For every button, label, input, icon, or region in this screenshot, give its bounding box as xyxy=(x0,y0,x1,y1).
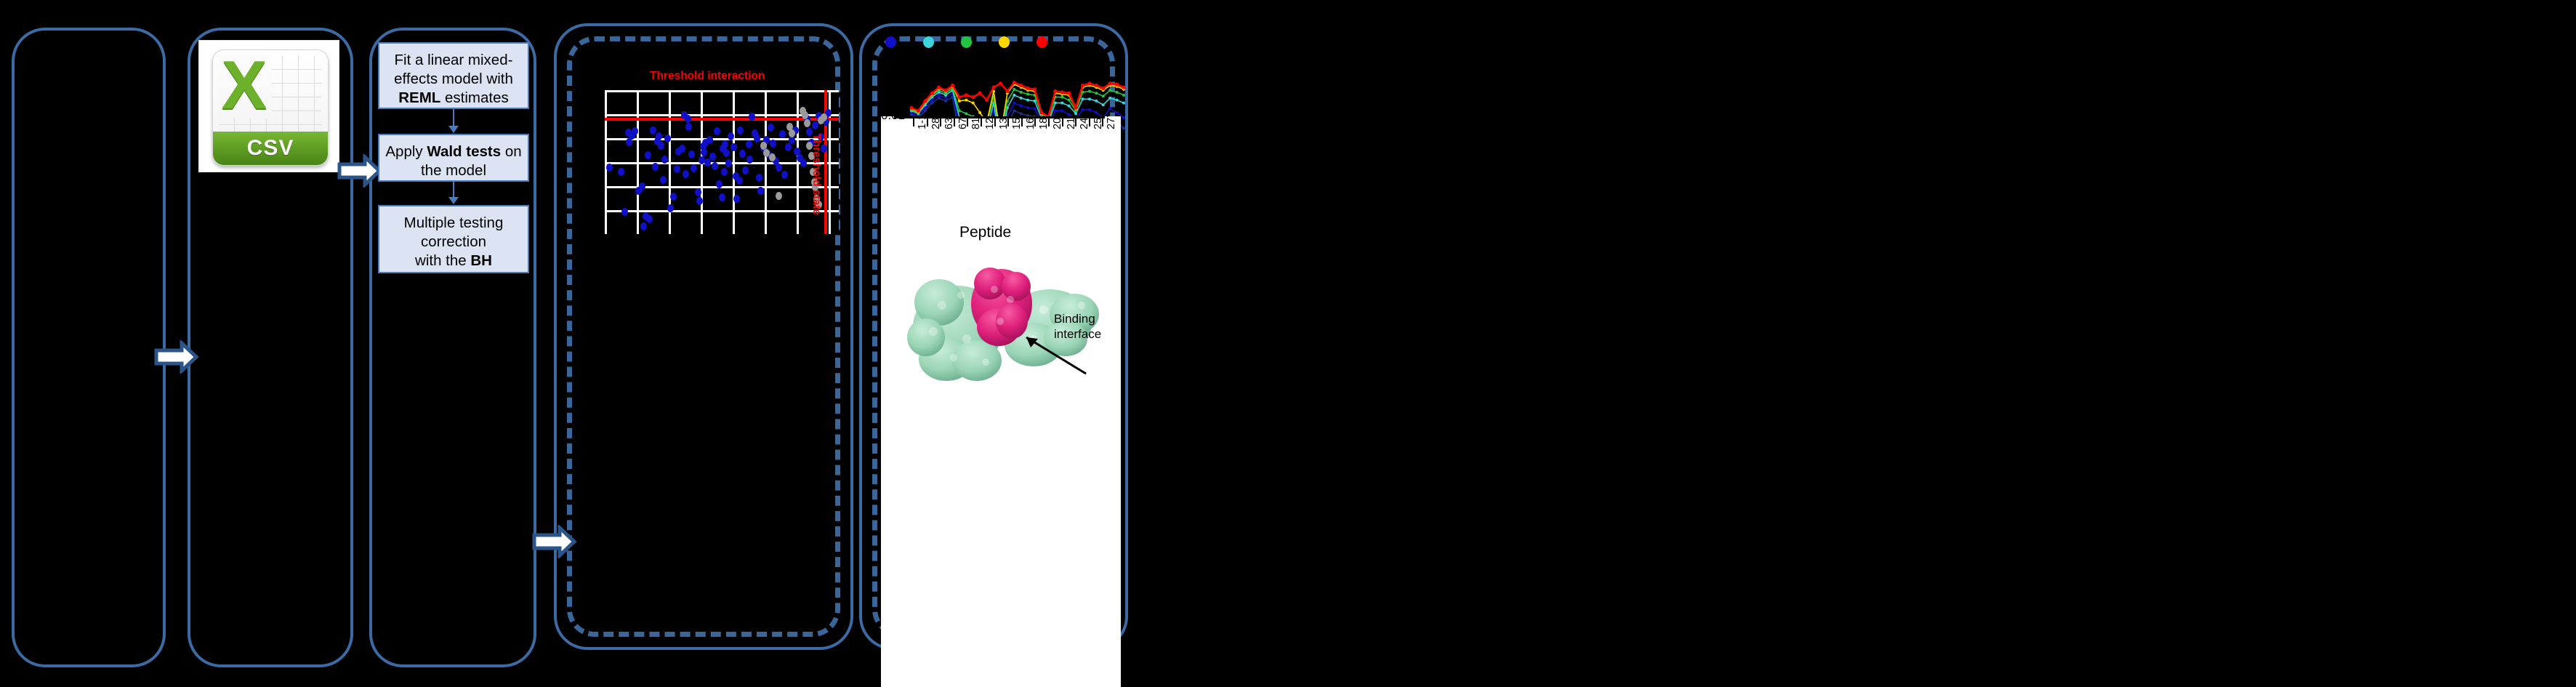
uptake-data-point xyxy=(1116,91,1119,94)
arrow-model-to-volcano-icon xyxy=(532,525,577,558)
peptide-label: 258-266 xyxy=(1092,116,1104,129)
scatter-point xyxy=(670,193,677,201)
csv-format-label: CSV xyxy=(213,132,328,165)
uptake-data-point xyxy=(999,81,1002,85)
uptake-data-point xyxy=(944,100,947,103)
scatter-point xyxy=(769,153,776,161)
uptake-data-point xyxy=(1068,105,1071,108)
uptake-data-point xyxy=(1005,89,1009,93)
csv-badge: X CSV xyxy=(212,49,329,166)
uptake-data-point xyxy=(1087,81,1091,85)
uptake-data-point xyxy=(1020,91,1023,94)
peptide-label: 28-44 xyxy=(930,116,942,129)
uptake-data-point xyxy=(1088,90,1091,93)
scatter-point xyxy=(646,215,653,223)
peptide-label: 167-180 xyxy=(1025,116,1037,129)
scatter-point xyxy=(802,111,808,119)
x-axis-title: Peptide xyxy=(959,224,1011,241)
uptake-data-point xyxy=(965,112,967,115)
uptake-data-point xyxy=(1108,89,1111,92)
uptake-data-point xyxy=(923,99,927,103)
structure-figure-card[interactable]: 0.01 1-1528-4463-7367-7581-101122-129135… xyxy=(881,116,1121,687)
uptake-data-point xyxy=(1026,93,1029,96)
uptake-data-point xyxy=(1095,100,1098,103)
peptide-label: 122-129 xyxy=(984,116,996,129)
uptake-data-point xyxy=(1026,87,1030,90)
peptide-label: 218-237 xyxy=(1066,116,1077,129)
uptake-data-point xyxy=(991,86,995,89)
scatter-point xyxy=(650,126,656,134)
scatter-point xyxy=(776,164,782,172)
scatter-point xyxy=(756,174,762,182)
uptake-data-point xyxy=(1122,102,1125,105)
scatter-point xyxy=(652,163,659,171)
binding-interface-annotation: Binding interface xyxy=(1054,311,1101,342)
uptake-data-point xyxy=(937,86,941,89)
uptake-data-point xyxy=(944,97,947,100)
scatter-point xyxy=(804,119,810,127)
proc3-line3-suffix: procedure xyxy=(420,271,487,288)
uptake-data-point xyxy=(1122,126,1125,129)
uptake-data-point xyxy=(1013,81,1016,84)
scatter-point xyxy=(679,145,685,153)
scatter-point xyxy=(770,140,776,148)
scatter-point xyxy=(821,113,827,121)
uptake-data-point xyxy=(1108,108,1111,111)
scatter-point xyxy=(664,134,671,142)
peptide-label: 158-166 xyxy=(1011,116,1023,129)
scatter-point xyxy=(674,165,680,173)
scatter-point xyxy=(645,151,651,159)
uptake-data-point xyxy=(978,92,982,95)
uptake-data-point xyxy=(958,109,961,112)
uptake-data-point xyxy=(958,100,961,103)
scatter-point xyxy=(719,193,725,201)
uptake-data-point xyxy=(1102,95,1105,97)
volcano-scatter-chart[interactable]: Threshold interaction Threshold state xyxy=(605,70,839,237)
uptake-data-point xyxy=(930,92,934,95)
scatter-point xyxy=(768,124,774,132)
proc3-line2: correction xyxy=(421,233,486,250)
scatter-point xyxy=(722,140,728,148)
scatter-point xyxy=(733,195,740,203)
binding-label-line2: interface xyxy=(1054,326,1101,342)
scatter-point xyxy=(728,132,734,140)
legend-dot-t4 xyxy=(999,36,1010,48)
scatter-point xyxy=(656,132,662,140)
uptake-data-point xyxy=(1060,90,1064,94)
process-box-wald-tests[interactable]: Apply Wald tests on the model parameters xyxy=(378,134,529,182)
axis-tick xyxy=(913,118,914,126)
scatter-point xyxy=(737,126,744,134)
peptide-label: 67-75 xyxy=(957,116,969,129)
uptake-data-point xyxy=(1074,106,1077,110)
uptake-data-point xyxy=(1068,99,1071,102)
proc1-line3-tail: estimates xyxy=(440,89,508,106)
uptake-data-point xyxy=(1013,109,1015,112)
arrow-csv-to-model-icon xyxy=(337,154,382,188)
uptake-data-point xyxy=(1115,83,1119,87)
uptake-data-point xyxy=(1026,106,1029,109)
uptake-data-point xyxy=(1081,108,1084,111)
scatter-point xyxy=(736,177,743,185)
scatter-point xyxy=(685,123,692,131)
proc1-line1: Fit a linear mixed- xyxy=(395,52,513,68)
uptake-data-point xyxy=(1033,87,1037,91)
scatter-point xyxy=(695,188,701,196)
uptake-data-point xyxy=(965,99,967,102)
legend-dot-t1 xyxy=(885,36,896,48)
uptake-data-point xyxy=(1122,86,1125,89)
scatter-point xyxy=(714,127,720,135)
uptake-data-point xyxy=(1095,111,1098,114)
scatter-point xyxy=(746,140,752,148)
uptake-data-point xyxy=(1060,109,1063,112)
uptake-data-point xyxy=(978,111,981,114)
peptide-label: 200-214 xyxy=(1052,116,1063,129)
peptide-label: 184-199 xyxy=(1038,116,1050,129)
scatter-point xyxy=(709,153,716,161)
scatter-point xyxy=(691,164,697,172)
uptake-data-point xyxy=(917,109,920,113)
connector-box2-box3 xyxy=(453,182,454,198)
proc2-bold-wald: Wald tests xyxy=(427,143,501,160)
volcano-plot-area[interactable] xyxy=(605,90,839,234)
scatter-point xyxy=(746,156,753,164)
peptide-label: 241-257 xyxy=(1079,116,1090,129)
uptake-data-point xyxy=(1095,92,1098,95)
uptake-data-point xyxy=(1088,97,1091,100)
scatter-point xyxy=(661,156,668,164)
scatter-point xyxy=(723,149,730,157)
scatter-point xyxy=(789,129,795,137)
uptake-data-point xyxy=(938,97,941,100)
threshold-state-label: Threshold state xyxy=(810,134,823,215)
uptake-data-point xyxy=(965,93,968,97)
scatter-point xyxy=(618,168,624,176)
scatter-point xyxy=(632,127,638,135)
uptake-data-point xyxy=(1081,84,1084,87)
uptake-data-point xyxy=(1020,105,1023,108)
uptake-data-point xyxy=(1101,87,1105,90)
proc2-prefix: Apply xyxy=(385,143,427,160)
scatter-point xyxy=(754,134,760,142)
uptake-data-point xyxy=(938,94,941,97)
scatter-point xyxy=(688,150,695,158)
scatter-point xyxy=(721,168,728,176)
proc3-line1: Multiple testing xyxy=(404,214,504,231)
scatter-point xyxy=(785,143,792,151)
uptake-data-point xyxy=(1088,108,1091,111)
uptake-data-point xyxy=(1122,94,1125,97)
scatter-point xyxy=(800,159,807,167)
uptake-data-point xyxy=(1102,103,1105,106)
scatter-point xyxy=(701,148,707,156)
uptake-data-point xyxy=(1020,97,1023,100)
proc2-suffix: on xyxy=(501,143,522,160)
uptake-data-point xyxy=(1095,84,1098,87)
excel-x-letter: X xyxy=(217,52,271,118)
uptake-data-point xyxy=(1020,112,1023,115)
legend-dot-t5 xyxy=(1037,36,1047,48)
uptake-data-point xyxy=(1074,112,1077,115)
uptake-data-point xyxy=(985,98,989,102)
uptake-data-point xyxy=(951,84,954,87)
uptake-data-point xyxy=(1013,94,1015,97)
process-box-multiple-testing[interactable]: Multiple testing correction with the BH … xyxy=(378,205,529,273)
uptake-data-point xyxy=(909,106,913,110)
proc3-bold-bh: BH xyxy=(470,252,492,269)
scatter-point xyxy=(716,180,723,188)
uptake-data-point xyxy=(971,95,975,99)
peptide-label: 135-144 xyxy=(998,116,1010,129)
binding-label-line1: Binding xyxy=(1054,311,1101,326)
uptake-data-point xyxy=(1013,88,1015,91)
process-box-fit-model[interactable]: Fit a linear mixed- effects model with R… xyxy=(378,42,529,109)
y-tick-label: 0.01 xyxy=(881,116,905,123)
peptide-label: 1-15 xyxy=(917,116,928,129)
uptake-data-point xyxy=(1060,102,1063,105)
connector-box1-box2 xyxy=(453,109,454,126)
uptake-legend xyxy=(885,36,1045,49)
scatter-point xyxy=(779,130,786,138)
threshold-interaction-label: Threshold interaction xyxy=(650,70,765,83)
uptake-data-point xyxy=(1034,108,1037,111)
uptake-data-point xyxy=(1019,84,1023,87)
scatter-point xyxy=(660,176,667,184)
scatter-point xyxy=(757,187,764,195)
scatter-point xyxy=(685,115,691,123)
csv-file-icon: X CSV xyxy=(199,41,339,172)
scatter-point xyxy=(639,182,645,190)
legend-dot-t2 xyxy=(923,36,934,48)
uptake-data-point xyxy=(1108,81,1112,85)
scatter-point xyxy=(712,162,718,170)
arrow-input-to-csv-icon xyxy=(154,340,199,374)
uptake-data-point xyxy=(1053,89,1057,93)
scatter-point xyxy=(667,204,674,212)
scatter-point xyxy=(742,166,749,174)
uptake-data-point xyxy=(957,95,961,99)
uptake-data-point xyxy=(1039,111,1043,114)
scatter-point xyxy=(606,164,613,172)
scatter-point xyxy=(683,170,689,178)
peptide-label: 277-284 xyxy=(1106,116,1117,129)
stage-panel-input[interactable] xyxy=(12,28,166,667)
scatter-point xyxy=(725,159,732,167)
scatter-point xyxy=(707,136,713,144)
uptake-data-point xyxy=(1116,111,1119,114)
scatter-point xyxy=(621,208,628,216)
scatter-point xyxy=(781,171,788,179)
proc1-bold-reml: REML xyxy=(398,89,440,106)
uptake-data-point xyxy=(1026,99,1029,102)
uptake-data-point xyxy=(972,102,975,105)
uptake-data-point xyxy=(1081,97,1084,100)
legend-dot-t3 xyxy=(961,36,972,48)
peptide-label: 81-101 xyxy=(970,116,982,129)
uptake-data-point xyxy=(1060,96,1063,99)
uptake-data-point xyxy=(1013,102,1015,105)
scatter-point xyxy=(776,192,782,200)
uptake-data-point xyxy=(1108,97,1111,100)
proc1-line2: effects model with xyxy=(394,71,513,87)
scatter-point xyxy=(640,222,647,230)
scatter-point xyxy=(739,150,746,158)
uptake-data-point xyxy=(1116,99,1119,102)
scatter-point xyxy=(696,197,703,205)
uptake-data-point xyxy=(1122,116,1125,119)
proc3-line3-prefix: with the xyxy=(415,252,470,269)
scatter-point xyxy=(730,143,737,151)
uptake-data-point xyxy=(1067,92,1071,95)
uptake-data-point xyxy=(943,89,947,92)
peptide-label: 63-73 xyxy=(943,116,955,129)
uptake-data-point xyxy=(1054,109,1057,112)
scatter-point xyxy=(658,142,664,150)
